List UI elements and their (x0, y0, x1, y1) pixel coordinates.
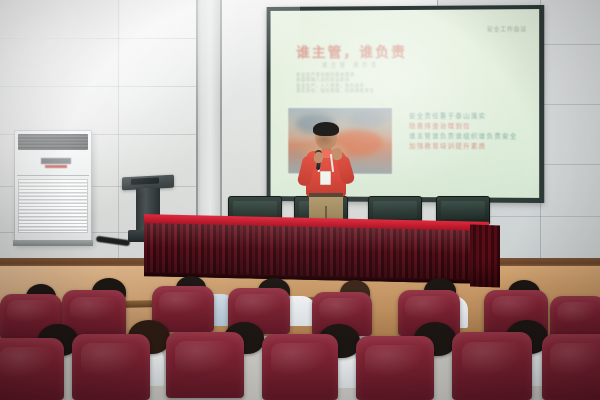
presenter-hair (313, 122, 339, 136)
audience-seat (166, 332, 244, 398)
ac-brand-label (41, 158, 71, 164)
audience-seat (452, 332, 532, 400)
audience-seat (72, 334, 150, 400)
ac-panel-seam (17, 175, 89, 176)
presenter-figure (296, 124, 358, 228)
audience-area (0, 276, 600, 400)
ac-lower-grill (18, 179, 88, 233)
wall-seam (0, 38, 200, 39)
auditorium-photo: 安全工作会议 谁主管，谁负责 谁主管 谁负责 安全生产责任制的基本要求 各级管理… (0, 0, 600, 400)
audience-seat (542, 334, 600, 400)
ac-vent-grill (18, 134, 88, 150)
wall-seam (0, 86, 200, 87)
ac-brand-accent (45, 165, 67, 168)
presenter-belt (309, 193, 343, 197)
presenter-right-hand (331, 147, 343, 160)
audience-seat (262, 334, 338, 400)
audience-seat (0, 338, 64, 400)
head-table (144, 218, 489, 280)
ac-base (13, 240, 93, 246)
air-conditioner-unit (14, 130, 92, 244)
wall-seam (118, 0, 119, 258)
lectern-control-panel (131, 177, 159, 184)
id-badge (320, 171, 331, 185)
audience-seat (356, 336, 434, 400)
